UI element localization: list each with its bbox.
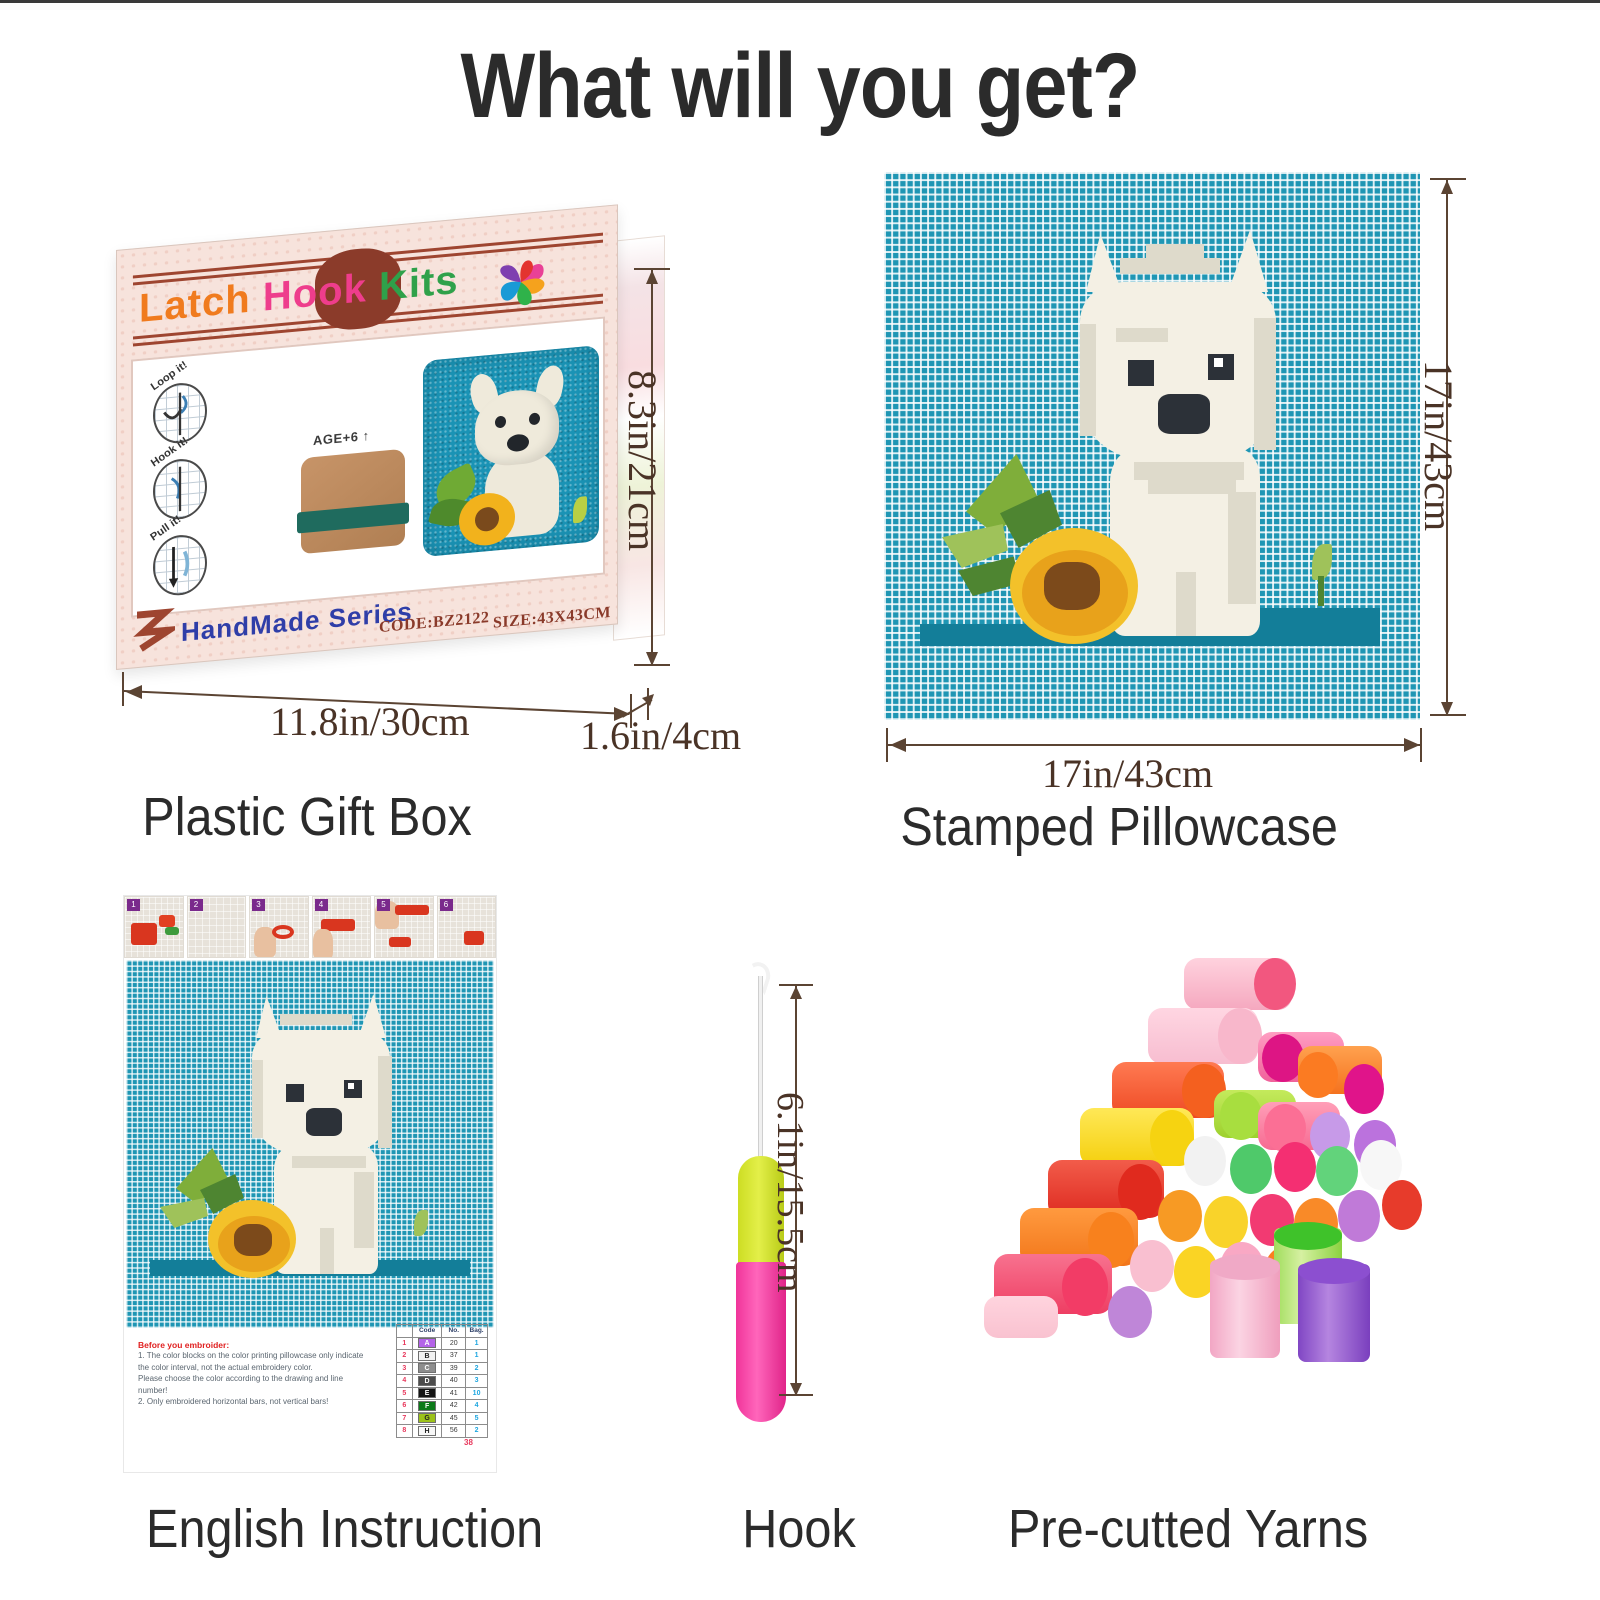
table-row: 1A201	[397, 1337, 488, 1350]
box-logo-word-1: Latch	[139, 277, 251, 331]
row-bag: 3	[466, 1375, 488, 1388]
table-row: 7G455	[397, 1412, 488, 1425]
th-code: Code	[412, 1325, 442, 1338]
table-row: 2B371	[397, 1350, 488, 1363]
english-instruction-sheet: 1 2 3 4 5	[124, 896, 496, 1472]
step-photo: 1	[124, 896, 184, 958]
row-bag: 2	[466, 1362, 488, 1375]
howto-circle-pull	[153, 533, 207, 598]
row-color-swatch: H	[412, 1425, 442, 1438]
note-line: the color interval, not the actual embro…	[138, 1362, 368, 1374]
step-number: 2	[190, 899, 203, 911]
row-color-swatch: D	[412, 1375, 442, 1388]
blank-pillow-illustration	[301, 449, 405, 554]
row-index: 3	[397, 1362, 413, 1375]
row-index: 7	[397, 1412, 413, 1425]
row-index: 4	[397, 1375, 413, 1388]
row-color-swatch: A	[412, 1337, 442, 1350]
pixel-dog-design	[884, 172, 1420, 720]
pillowcase-width-label: 17in/43cm	[1042, 750, 1213, 797]
row-bag: 4	[466, 1400, 488, 1413]
row-bag: 2	[466, 1425, 488, 1438]
gift-box-front: Latch Hook Kits	[116, 204, 618, 670]
age-label: AGE+6 ↑	[313, 428, 370, 448]
table-total: 38	[464, 1438, 473, 1447]
step-photo: 3	[249, 896, 309, 958]
row-count: 45	[442, 1412, 466, 1425]
note-line: 2. Only embroidered horizontal bars, not…	[138, 1396, 368, 1408]
th-index	[397, 1325, 413, 1338]
instruction-note: Before you embroider: 1. The color block…	[138, 1340, 368, 1408]
caption-pillowcase: Stamped Pillowcase	[900, 796, 1338, 858]
table-row: 4D403	[397, 1375, 488, 1388]
step-photo: 2	[187, 896, 247, 958]
row-color-swatch: E	[412, 1387, 442, 1400]
row-count: 39	[442, 1362, 466, 1375]
hook-length-label: 6.1in/15.5cm	[768, 1092, 812, 1293]
note-line: 1. The color blocks on the color printin…	[138, 1350, 368, 1362]
caption-gift-box: Plastic Gift Box	[142, 786, 471, 848]
row-index: 8	[397, 1425, 413, 1438]
th-no: No.	[442, 1325, 466, 1338]
row-bag: 1	[466, 1337, 488, 1350]
row-color-swatch: F	[412, 1400, 442, 1413]
hook-needle	[758, 976, 763, 1166]
row-index: 5	[397, 1387, 413, 1400]
color-code-table: Code No. Bag. 1A2012B3713C3924D4035E4110…	[396, 1324, 488, 1438]
pre-cutted-yarns-image	[962, 940, 1452, 1430]
row-count: 20	[442, 1337, 466, 1350]
top-border	[0, 0, 1600, 3]
row-bag: 1	[466, 1350, 488, 1363]
instruction-chart-canvas	[126, 960, 494, 1328]
stamped-pillowcase-image	[884, 172, 1420, 720]
zigzag-icon	[131, 608, 175, 654]
caption-yarns: Pre-cutted Yarns	[1008, 1498, 1368, 1560]
box-width-label: 11.8in/30cm	[270, 698, 470, 745]
row-count: 37	[442, 1350, 466, 1363]
pillowcase-height-label: 17in/43cm	[1415, 360, 1462, 531]
note-line: Please choose the color according to the…	[138, 1373, 368, 1396]
note-title: Before you embroider:	[138, 1340, 368, 1350]
step-number: 6	[440, 899, 453, 911]
step-photo: 5	[374, 896, 434, 958]
row-count: 56	[442, 1425, 466, 1438]
box-height-label: 8.3in/21cm	[619, 370, 666, 551]
pinwheel-icon	[485, 243, 557, 322]
step-photo: 4	[312, 896, 372, 958]
howto-circle-hook	[153, 457, 207, 522]
step-number: 3	[252, 899, 265, 911]
yarn-reflection	[962, 1390, 1452, 1430]
row-bag: 5	[466, 1412, 488, 1425]
finished-pillow-photo	[423, 345, 599, 557]
row-color-swatch: G	[412, 1412, 442, 1425]
box-inner-panel: Loop it! Hook it! Pull it! AGE+6 ↑	[131, 316, 605, 617]
caption-hook: Hook	[742, 1498, 855, 1560]
row-index: 2	[397, 1350, 413, 1363]
instruction-pixel-dog	[126, 960, 494, 1328]
infographic-page: What will you get? Latch Hook Kits	[0, 0, 1600, 1600]
table-header-row: Code No. Bag.	[397, 1325, 488, 1338]
box-logo-word-2: Hook	[263, 266, 367, 319]
row-bag: 10	[466, 1387, 488, 1400]
step-number: 4	[315, 899, 328, 911]
th-bag: Bag.	[466, 1325, 488, 1338]
instruction-step-photos: 1 2 3 4 5	[124, 896, 496, 958]
row-color-swatch: C	[412, 1362, 442, 1375]
box-logo-word-3: Kits	[379, 258, 459, 309]
row-count: 41	[442, 1387, 466, 1400]
hook-tip	[740, 959, 774, 996]
page-title: What will you get?	[112, 34, 1488, 139]
row-count: 42	[442, 1400, 466, 1413]
table-row: 5E4110	[397, 1387, 488, 1400]
row-index: 1	[397, 1337, 413, 1350]
caption-instruction: English Instruction	[146, 1498, 543, 1560]
step-photo: 6	[437, 896, 497, 958]
box-depth-label: 1.6in/4cm	[580, 712, 741, 759]
row-count: 40	[442, 1375, 466, 1388]
row-color-swatch: B	[412, 1350, 442, 1363]
step-number: 5	[377, 899, 390, 911]
table-row: 3C392	[397, 1362, 488, 1375]
table-row: 6F424	[397, 1400, 488, 1413]
step-number: 1	[127, 899, 140, 911]
row-index: 6	[397, 1400, 413, 1413]
table-row: 8H562	[397, 1425, 488, 1438]
gift-box-image: Latch Hook Kits	[108, 196, 668, 676]
